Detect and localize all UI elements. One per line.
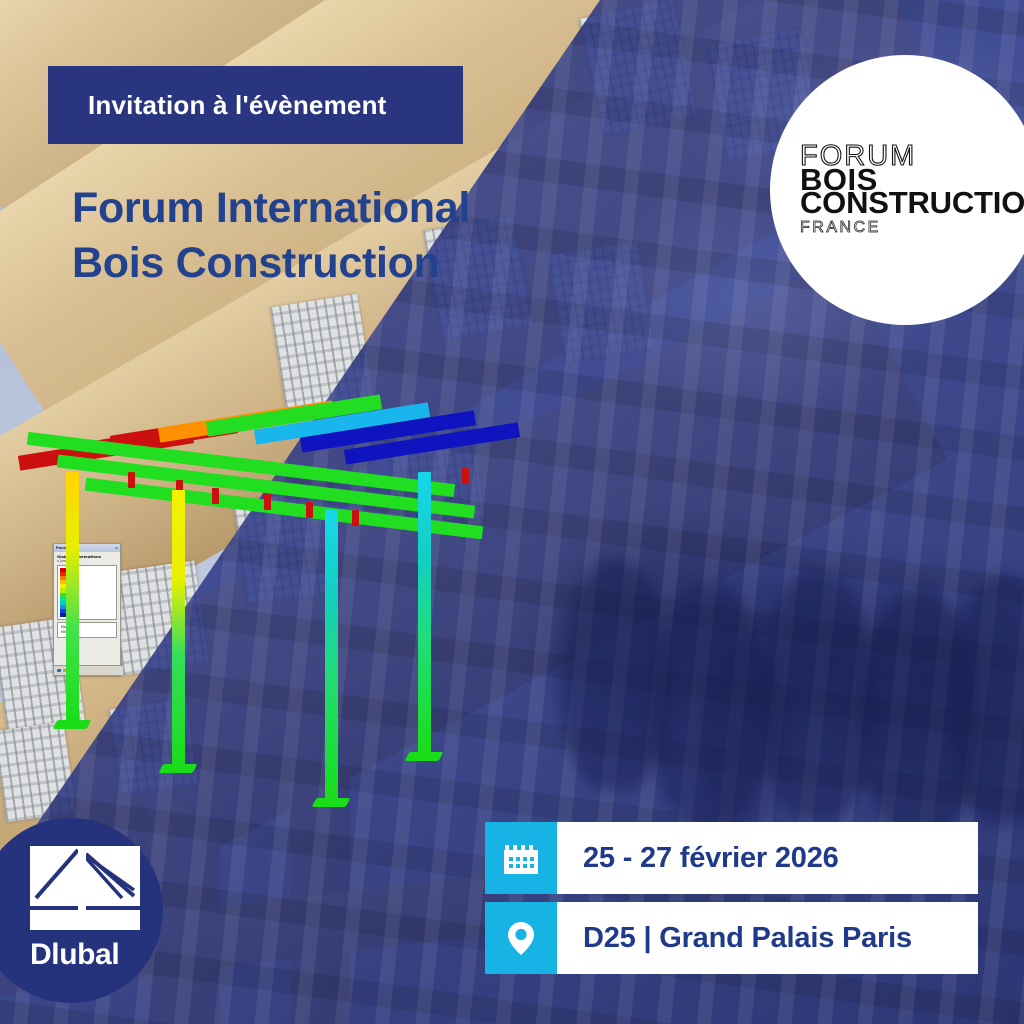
page-title-line1: Forum International (72, 184, 470, 232)
event-location-box[interactable]: D25 | Grand Palais Paris (485, 902, 978, 974)
fea-column (66, 472, 79, 722)
calendar-icon (485, 822, 557, 894)
fea-node-marker (264, 494, 271, 510)
fea-node-marker (128, 472, 135, 488)
dlubal-wordmark: Dlubal (30, 938, 119, 972)
fea-node-marker (306, 502, 313, 518)
poster-canvas: Invitation à l'évènement Forum Internati… (0, 0, 1024, 1024)
fea-node-marker (462, 468, 469, 484)
logo-line-construction: CONSTRUCTION (800, 189, 1024, 218)
event-date-text: 25 - 27 février 2026 (557, 822, 978, 894)
fea-support (405, 752, 444, 761)
fea-support (53, 720, 92, 729)
fea-structural-model (0, 380, 520, 820)
fea-column (172, 490, 185, 766)
map-pin-icon (485, 902, 557, 974)
event-date-box[interactable]: 25 - 27 février 2026 (485, 822, 978, 894)
fea-support (159, 764, 198, 773)
logo-pylon (78, 846, 86, 930)
fea-column (418, 472, 431, 754)
forum-bois-construction-logo: FORUM BOIS CONSTRUCTION FRANCE (770, 55, 1024, 325)
event-location-text: D25 | Grand Palais Paris (557, 902, 978, 974)
logo-line-france: FRANCE (800, 220, 1024, 236)
fea-node-marker (352, 510, 359, 526)
ribbon-label: Invitation à l'évènement (48, 90, 387, 121)
fea-column (325, 510, 338, 800)
fea-node-marker (212, 488, 219, 504)
page-title: Forum International Bois Construction (72, 181, 712, 291)
page-title-line2: Bois Construction (72, 236, 712, 291)
invitation-ribbon: Invitation à l'évènement (48, 66, 463, 144)
fea-support (312, 798, 351, 807)
